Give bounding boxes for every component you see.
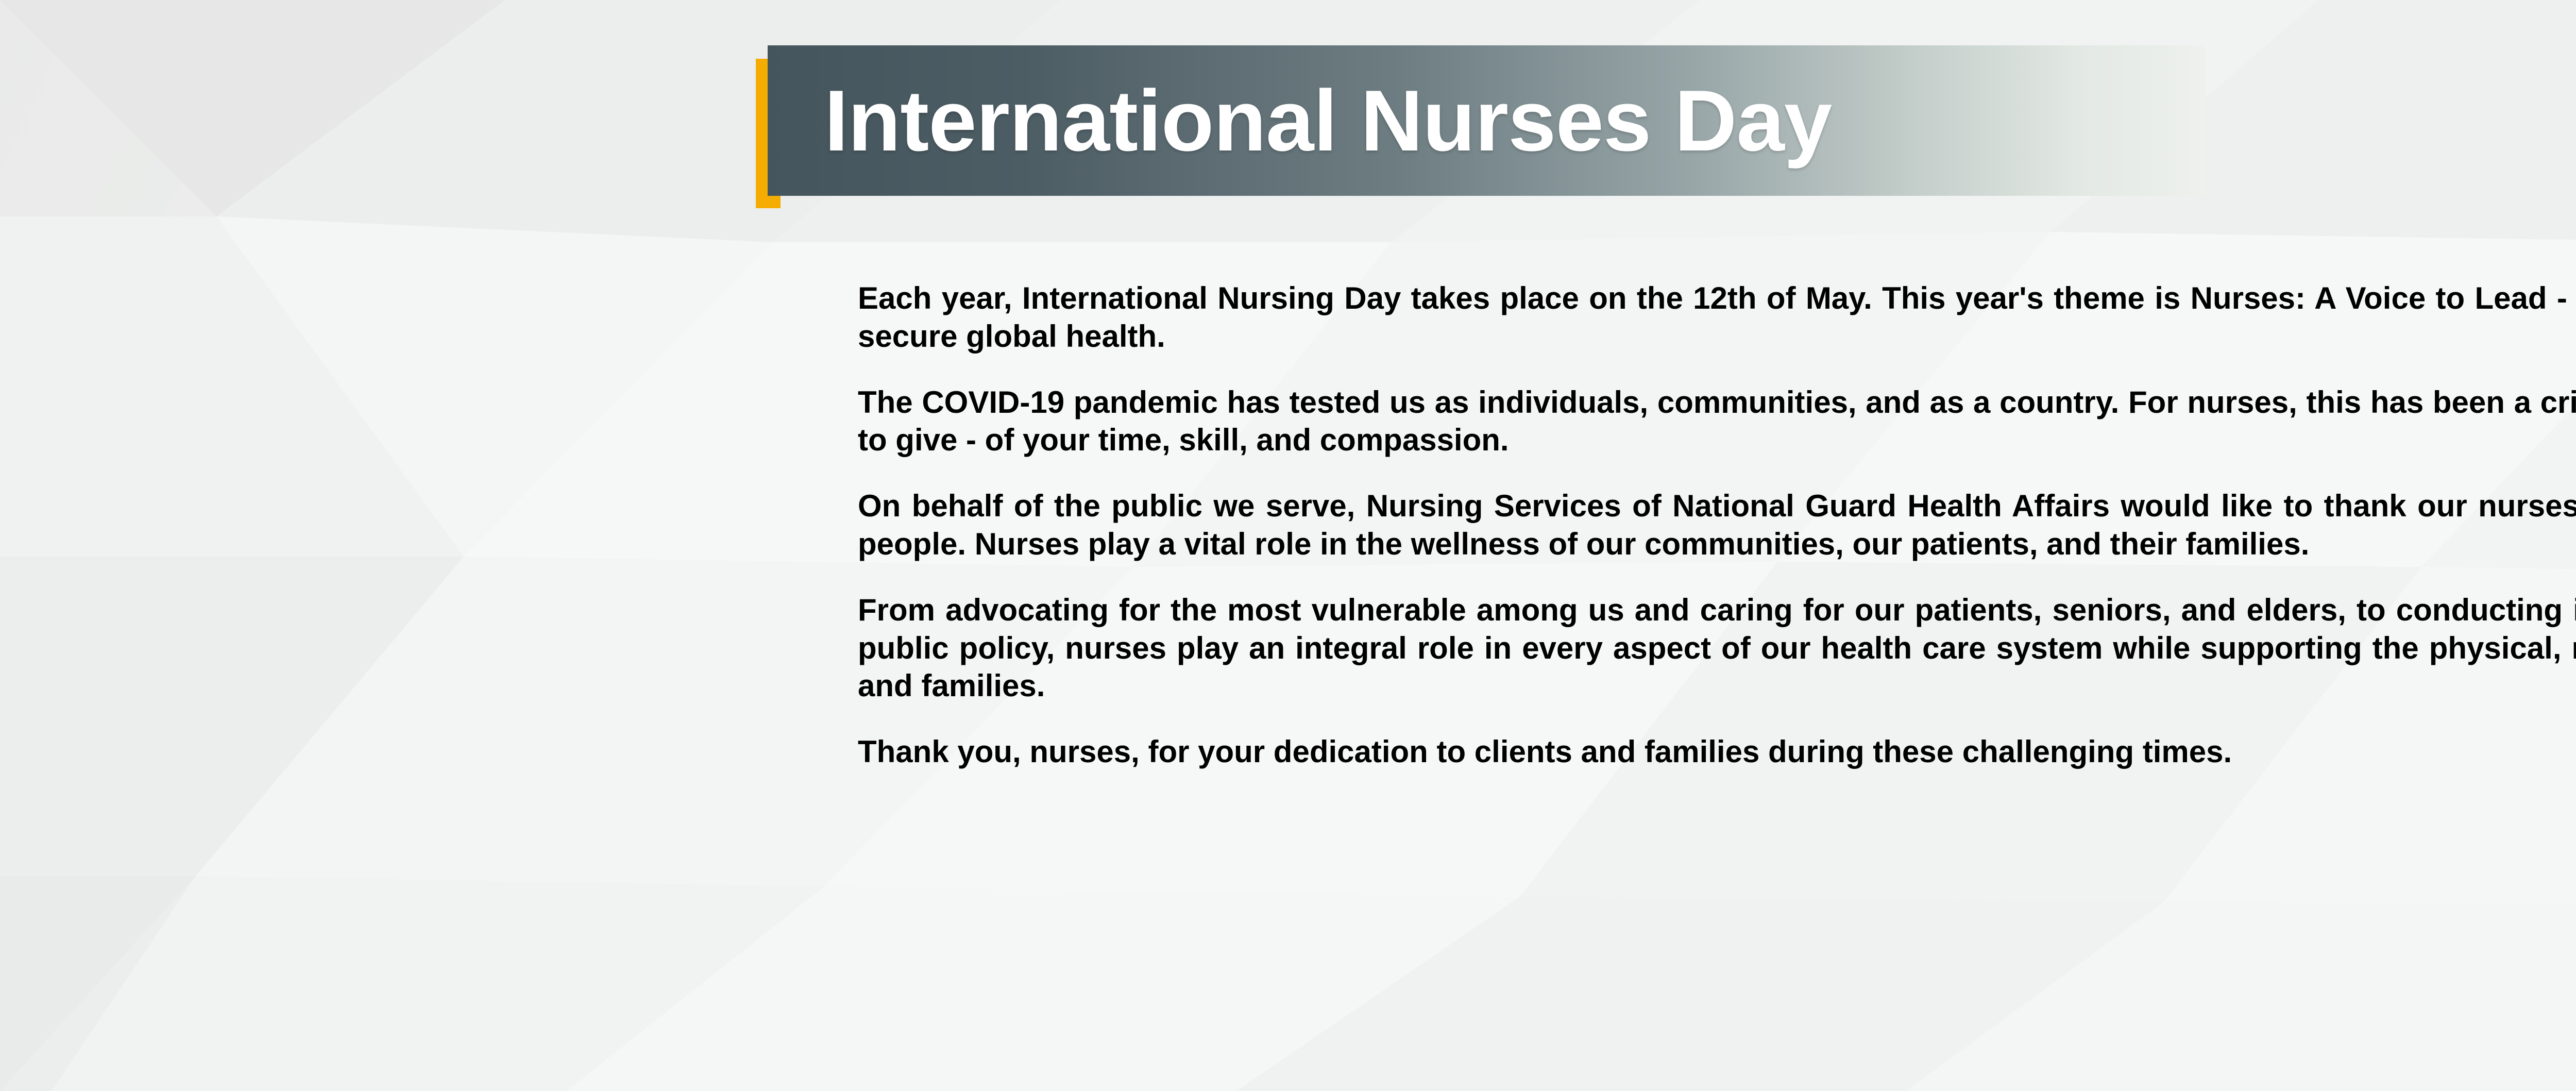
paragraph-4: From advocating for the most vulnerable … (858, 591, 2576, 705)
paragraph-3: On behalf of the public we serve, Nursin… (858, 487, 2576, 563)
paragraph-1: Each year, International Nursing Day tak… (858, 279, 2576, 356)
page-title: International Nurses Day (824, 77, 1832, 164)
paragraph-2: The COVID-19 pandemic has tested us as i… (858, 383, 2576, 460)
title-banner: International Nurses Day (768, 45, 2205, 196)
slide-canvas: International Nurses Day Each year, Inte… (0, 0, 2576, 1091)
paragraph-5: Thank you, nurses, for your dedication t… (858, 733, 2576, 771)
body-text-block: Each year, International Nursing Day tak… (858, 279, 2576, 771)
